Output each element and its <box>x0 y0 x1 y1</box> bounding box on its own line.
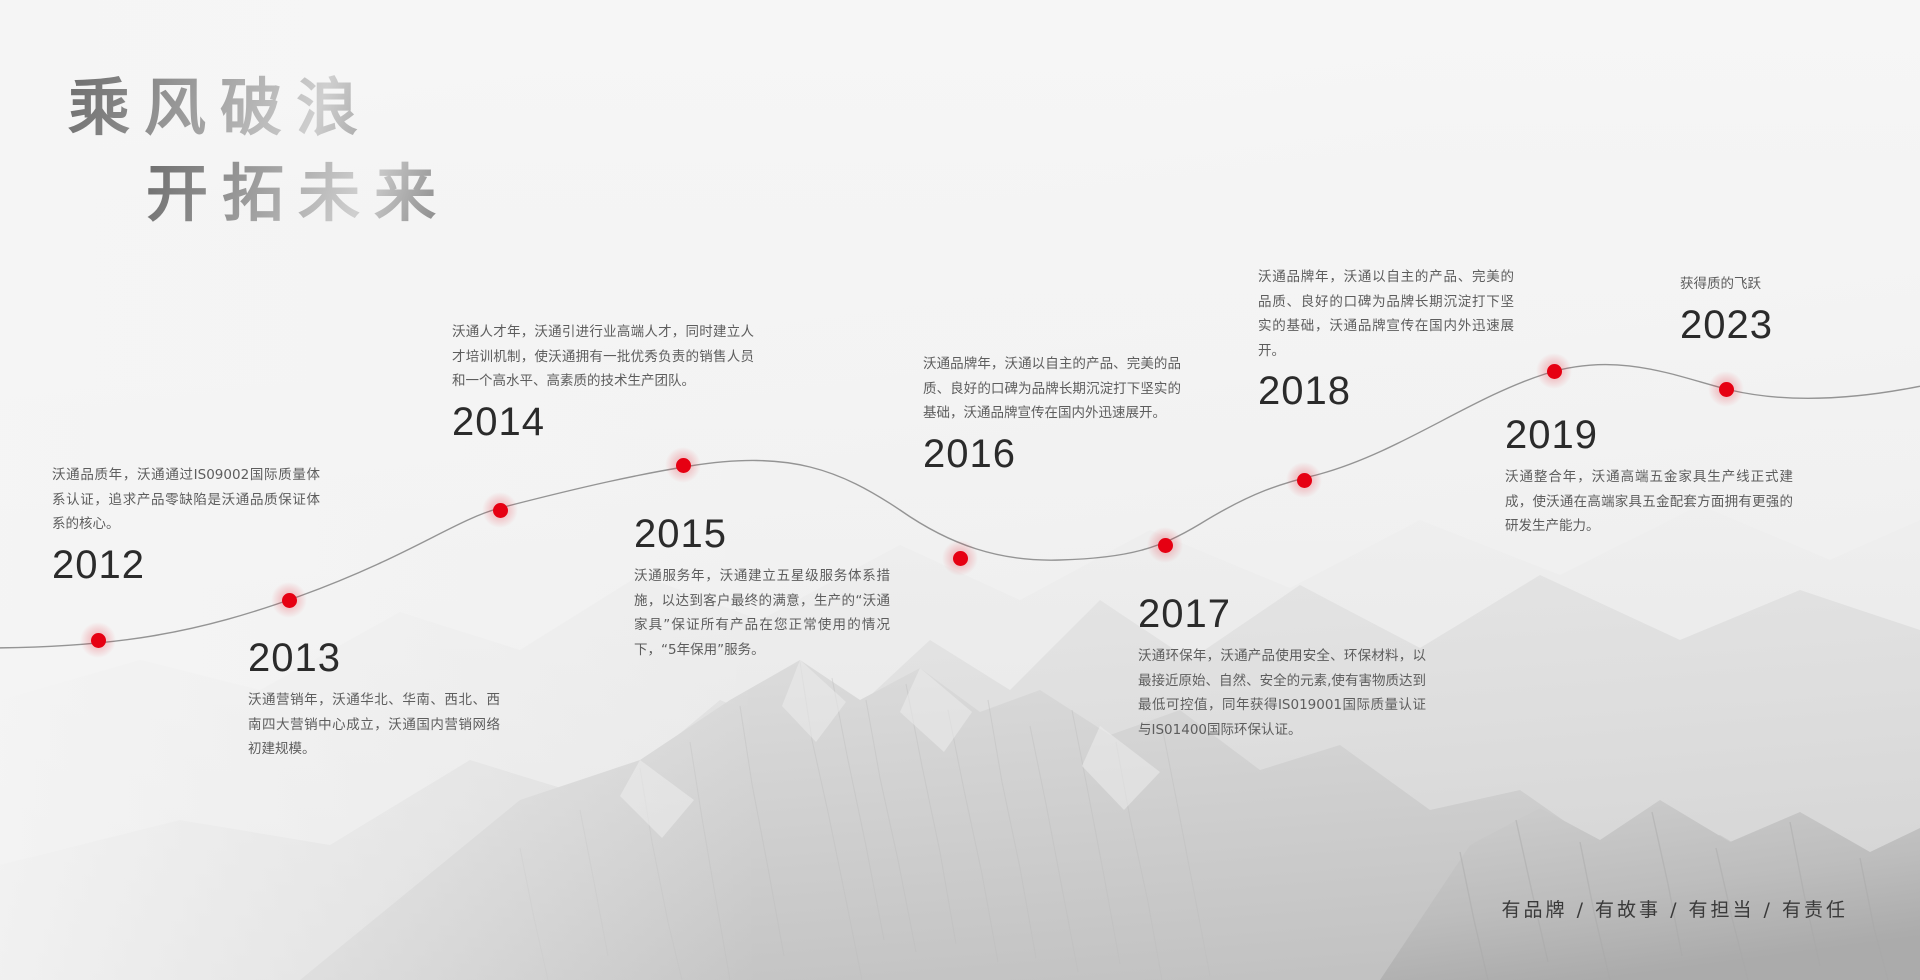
node-dot-icon <box>282 593 297 608</box>
timeline-year-label: 2012 <box>52 543 320 587</box>
timeline-year-label: 2015 <box>634 512 890 556</box>
timeline-year-label: 2019 <box>1505 413 1793 457</box>
timeline-node-2013[interactable] <box>271 582 307 618</box>
node-dot-icon <box>1297 473 1312 488</box>
timeline-node-2018[interactable] <box>1286 462 1322 498</box>
node-dot-icon <box>1719 382 1734 397</box>
node-dot-icon <box>1547 364 1562 379</box>
timeline-entry-2017[interactable]: 2017沃通环保年，沃通产品使用安全、环保材料，以最接近原始、自然、安全的元素,… <box>1138 592 1426 742</box>
timeline-node-2017[interactable] <box>1147 527 1183 563</box>
node-dot-icon <box>493 503 508 518</box>
node-dot-icon <box>91 633 106 648</box>
timeline-entry-2016[interactable]: 沃通品牌年，沃通以自主的产品、完美的品质、良好的口碑为品牌长期沉淀打下坚实的基础… <box>923 352 1181 476</box>
timeline-node-2015[interactable] <box>665 447 701 483</box>
timeline-year-label: 2016 <box>923 432 1181 476</box>
timeline-entry-2012[interactable]: 沃通品质年，沃通通过IS09002国际质量体系认证，追求产品零缺陷是沃通品质保证… <box>52 463 320 587</box>
timeline-description: 沃通服务年，沃通建立五星级服务体系措施，以达到客户最终的满意，生产的“沃通家具”… <box>634 564 890 662</box>
timeline-description: 沃通环保年，沃通产品使用安全、环保材料，以最接近原始、自然、安全的元素,使有害物… <box>1138 644 1426 742</box>
timeline-year-label: 2014 <box>452 400 754 444</box>
timeline-entry-2013[interactable]: 2013沃通营销年，沃通华北、华南、西北、西南四大营销中心成立，沃通国内营销网络… <box>248 636 500 762</box>
timeline-entry-2023[interactable]: 获得质的飞跃2023 <box>1680 272 1900 347</box>
timeline-entry-2014[interactable]: 沃通人才年，沃通引进行业高端人才，同时建立人才培训机制，使沃通拥有一批优秀负责的… <box>452 320 754 444</box>
footer-slogan: 有品牌 / 有故事 / 有担当 / 有责任 <box>1502 895 1848 922</box>
timeline-node-2016[interactable] <box>942 540 978 576</box>
timeline-node-2019[interactable] <box>1536 353 1572 389</box>
timeline-entry-2018[interactable]: 沃通品牌年，沃通以自主的产品、完美的品质、良好的口碑为品牌长期沉淀打下坚实的基础… <box>1258 265 1514 413</box>
timeline-entry-2015[interactable]: 2015沃通服务年，沃通建立五星级服务体系措施，以达到客户最终的满意，生产的“沃… <box>634 512 890 662</box>
timeline-description: 沃通品牌年，沃通以自主的产品、完美的品质、良好的口碑为品牌长期沉淀打下坚实的基础… <box>923 352 1181 426</box>
timeline-description: 获得质的飞跃 <box>1680 272 1900 297</box>
timeline-description: 沃通品质年，沃通通过IS09002国际质量体系认证，追求产品零缺陷是沃通品质保证… <box>52 463 320 537</box>
timeline-node-2014[interactable] <box>482 492 518 528</box>
timeline-year-label: 2013 <box>248 636 500 680</box>
timeline-infographic: 乘风破浪 开拓未来 沃通品质年，沃通通过IS09002国际质量体系认证，追求产品… <box>0 0 1920 980</box>
timeline-description: 沃通整合年，沃通高端五金家具生产线正式建成，使沃通在高端家具五金配套方面拥有更强… <box>1505 465 1793 539</box>
node-dot-icon <box>676 458 691 473</box>
timeline-entry-2019[interactable]: 2019沃通整合年，沃通高端五金家具生产线正式建成，使沃通在高端家具五金配套方面… <box>1505 413 1793 539</box>
timeline-year-label: 2018 <box>1258 369 1514 413</box>
timeline-description: 沃通品牌年，沃通以自主的产品、完美的品质、良好的口碑为品牌长期沉淀打下坚实的基础… <box>1258 265 1514 363</box>
timeline-node-2012[interactable] <box>80 622 116 658</box>
node-dot-icon <box>953 551 968 566</box>
timeline-year-label: 2017 <box>1138 592 1426 636</box>
timeline-description: 沃通营销年，沃通华北、华南、西北、西南四大营销中心成立，沃通国内营销网络初建规模… <box>248 688 500 762</box>
timeline-year-label: 2023 <box>1680 303 1900 347</box>
timeline-description: 沃通人才年，沃通引进行业高端人才，同时建立人才培训机制，使沃通拥有一批优秀负责的… <box>452 320 754 394</box>
timeline-node-2023[interactable] <box>1708 371 1744 407</box>
node-dot-icon <box>1158 538 1173 553</box>
